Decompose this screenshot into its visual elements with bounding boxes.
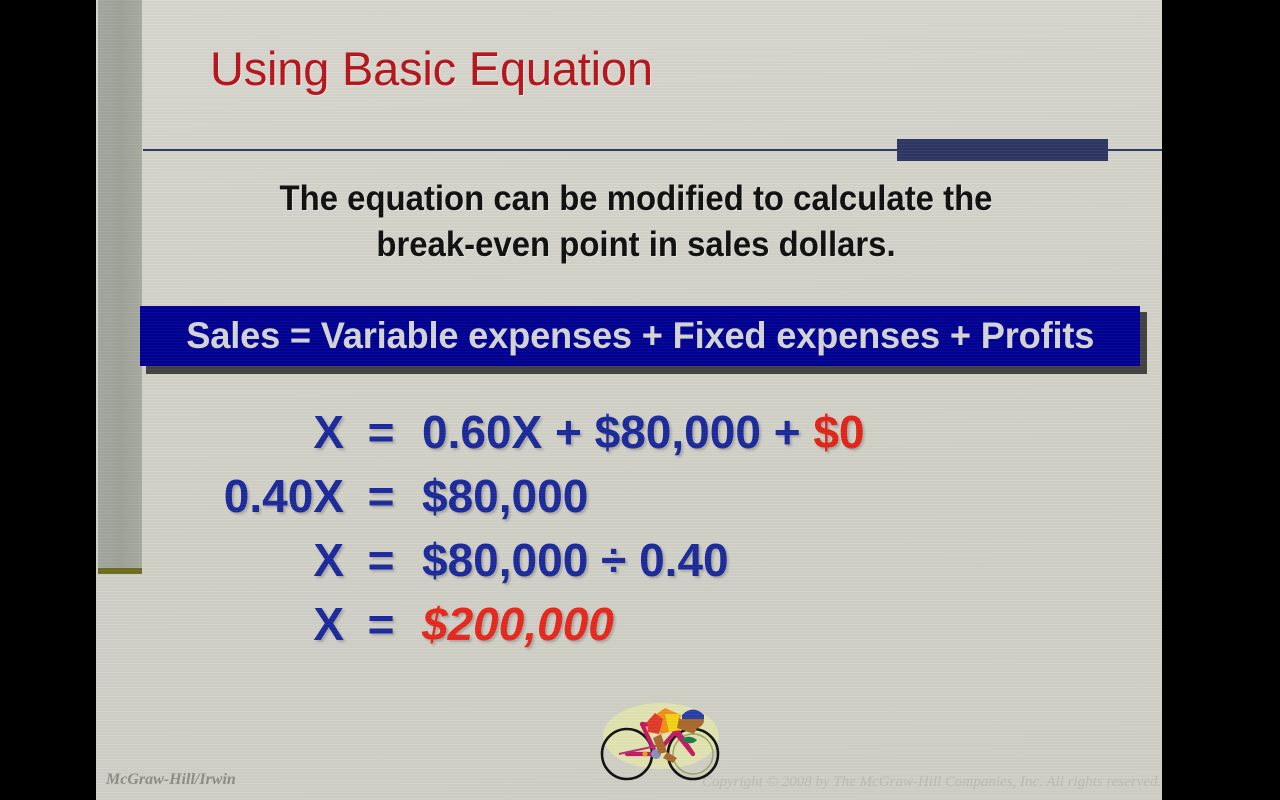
equation-equals: =: [358, 533, 404, 587]
equation-lhs: 0.40X: [96, 469, 358, 523]
equation-row: 0.40X = $80,000: [96, 469, 1162, 533]
cyclist-icon: [593, 688, 733, 784]
subtitle-line-1: The equation can be modified to calculat…: [185, 176, 1087, 222]
slide-canvas: Using Basic Equation The equation can be…: [96, 0, 1162, 800]
presentation-stage: Using Basic Equation The equation can be…: [0, 0, 1280, 800]
equation-rhs: 0.60X + $80,000 + $0: [404, 405, 865, 459]
equation-equals: =: [358, 469, 404, 523]
equation-rhs-blue: 0.60X + $80,000 +: [422, 406, 813, 458]
equation-rhs-blue: $80,000: [422, 470, 588, 522]
equation-equals: =: [358, 405, 404, 459]
equation-rhs: $200,000: [404, 597, 614, 651]
equation-rhs-blue: $80,000 ÷ 0.40: [422, 534, 729, 586]
equation-rhs-highlight: $0: [813, 406, 864, 458]
equation-equals: =: [358, 597, 404, 651]
letterbox-left: [0, 0, 96, 800]
equation-lhs: X: [96, 405, 358, 459]
equation-row: X = 0.60X + $80,000 + $0: [96, 405, 1162, 469]
footer-copyright: Copyright © 2008 by The McGraw-Hill Comp…: [702, 774, 1161, 791]
equation-lhs: X: [96, 597, 358, 651]
formula-bar-text: Sales = Variable expenses + Fixed expens…: [186, 315, 1094, 357]
equation-row: X = $80,000 ÷ 0.40: [96, 533, 1162, 597]
slide-title: Using Basic Equation: [210, 44, 653, 93]
equation-result-value: $200,000: [422, 598, 614, 650]
slide-subtitle: The equation can be modified to calculat…: [185, 176, 1087, 268]
equation-rhs: $80,000: [404, 469, 588, 523]
footer-brand: McGraw-Hill/Irwin: [106, 771, 236, 789]
letterbox-right: [1162, 0, 1280, 800]
header-accent-block: [897, 139, 1108, 161]
equation-lhs: X: [96, 533, 358, 587]
equation-row: X = $200,000: [96, 597, 1162, 661]
equation-rhs: $80,000 ÷ 0.40: [404, 533, 729, 587]
subtitle-line-2: break-even point in sales dollars.: [185, 222, 1087, 268]
formula-bar: Sales = Variable expenses + Fixed expens…: [140, 306, 1140, 366]
equation-block: X = 0.60X + $80,000 + $0 0.40X = $80,000…: [96, 405, 1162, 661]
